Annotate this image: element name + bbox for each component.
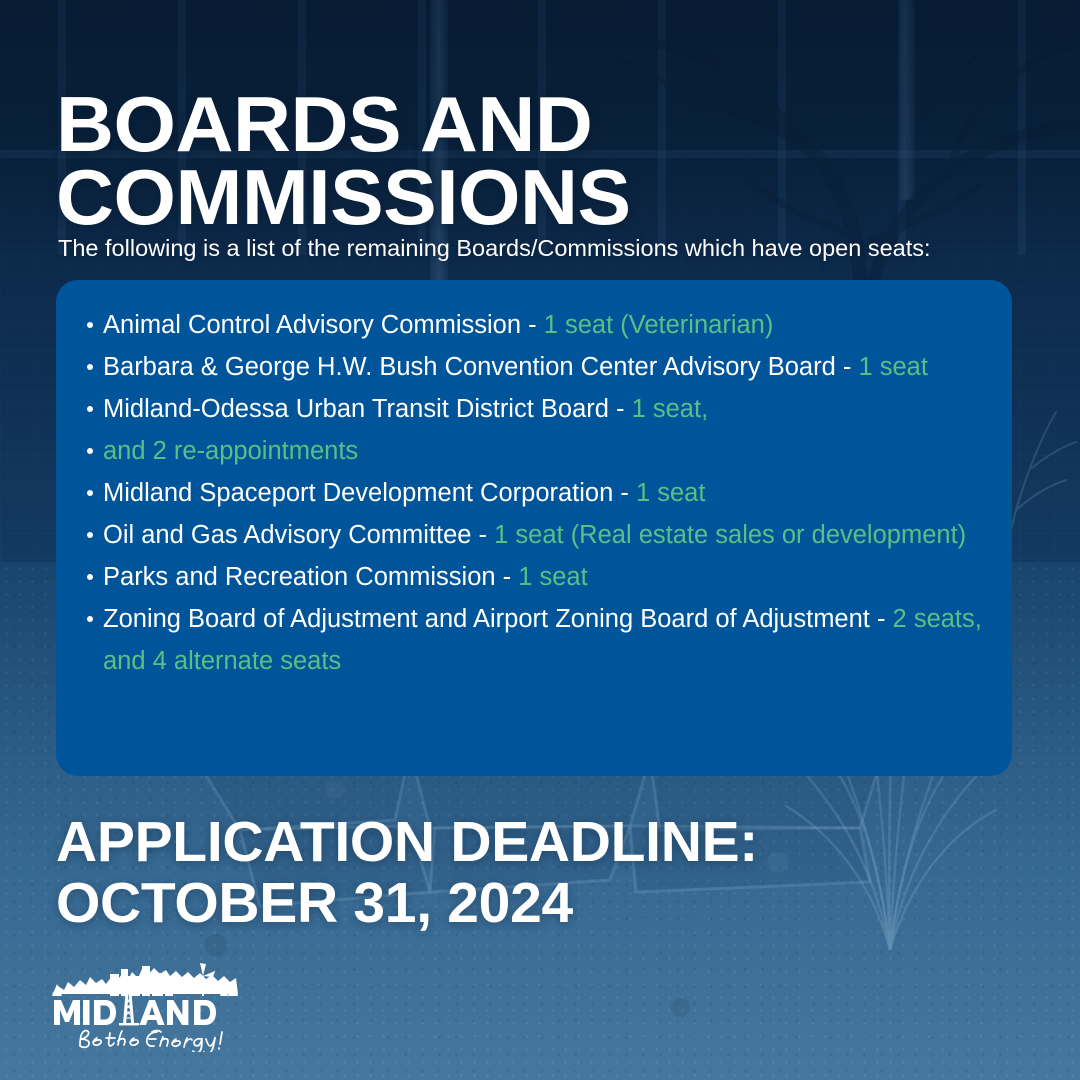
page-title: BOARDS AND COMMISSIONS (56, 88, 1065, 233)
bullet-icon (87, 616, 93, 622)
seat-count: 1 seat (636, 479, 705, 507)
list-item: and 2 re-appointments (56, 430, 1012, 472)
deadline-line-1: APPLICATION DEADLINE: (56, 810, 758, 874)
seat-count: 1 seat (Veterinarian) (544, 311, 774, 339)
bullet-icon (87, 364, 93, 370)
list-item: Barbara & George H.W. Bush Convention Ce… (56, 346, 1012, 388)
seat-count: 1 seat (858, 353, 927, 381)
seat-count: 1 seat (Real estate sales or development… (494, 521, 966, 549)
bullet-icon (87, 532, 93, 538)
bullet-icon (87, 574, 93, 580)
board-name: Oil and Gas Advisory Committee - (103, 521, 494, 549)
deadline-heading: APPLICATION DEADLINE: OCTOBER 31, 2024 (56, 812, 956, 934)
bullet-icon (87, 322, 93, 328)
seat-count: 1 seat (518, 563, 587, 591)
seat-count: and 2 re-appointments (103, 437, 358, 465)
bullet-icon (87, 448, 93, 454)
list-item: Animal Control Advisory Commission - 1 s… (56, 304, 1012, 346)
logo-tagline (80, 1031, 222, 1053)
midland-logo (50, 960, 240, 1052)
seat-count: 1 seat, (632, 395, 709, 423)
midland-logo-icon (50, 960, 240, 1052)
poster-content: BOARDS AND COMMISSIONS The following is … (0, 0, 1080, 1080)
list-item: Midland-Odessa Urban Transit District Bo… (56, 388, 1012, 430)
skyline-icon (52, 963, 238, 996)
poster-canvas: BOARDS AND COMMISSIONS The following is … (0, 0, 1080, 1080)
openings-list: Animal Control Advisory Commission - 1 s… (56, 304, 1012, 682)
subheading: The following is a list of the remaining… (58, 234, 1038, 262)
board-name: Animal Control Advisory Commission - (103, 311, 544, 339)
board-name: Parks and Recreation Commission - (103, 563, 518, 591)
list-item: Midland Spaceport Development Corporatio… (56, 472, 1012, 514)
list-item: Parks and Recreation Commission - 1 seat (56, 556, 1012, 598)
deadline-line-2: OCTOBER 31, 2024 (56, 871, 573, 935)
list-item: Zoning Board of Adjustment and Airport Z… (56, 598, 1012, 682)
bullet-icon (87, 406, 93, 412)
bullet-icon (87, 490, 93, 496)
list-item: Oil and Gas Advisory Committee - 1 seat … (56, 514, 1012, 556)
openings-card: Animal Control Advisory Commission - 1 s… (56, 280, 1012, 776)
board-name: Midland Spaceport Development Corporatio… (103, 479, 636, 507)
board-name: Midland-Odessa Urban Transit District Bo… (103, 395, 632, 423)
board-name: Barbara & George H.W. Bush Convention Ce… (103, 353, 858, 381)
page-title-line-2: COMMISSIONS (56, 153, 631, 241)
board-name: Zoning Board of Adjustment and Airport Z… (103, 605, 893, 633)
